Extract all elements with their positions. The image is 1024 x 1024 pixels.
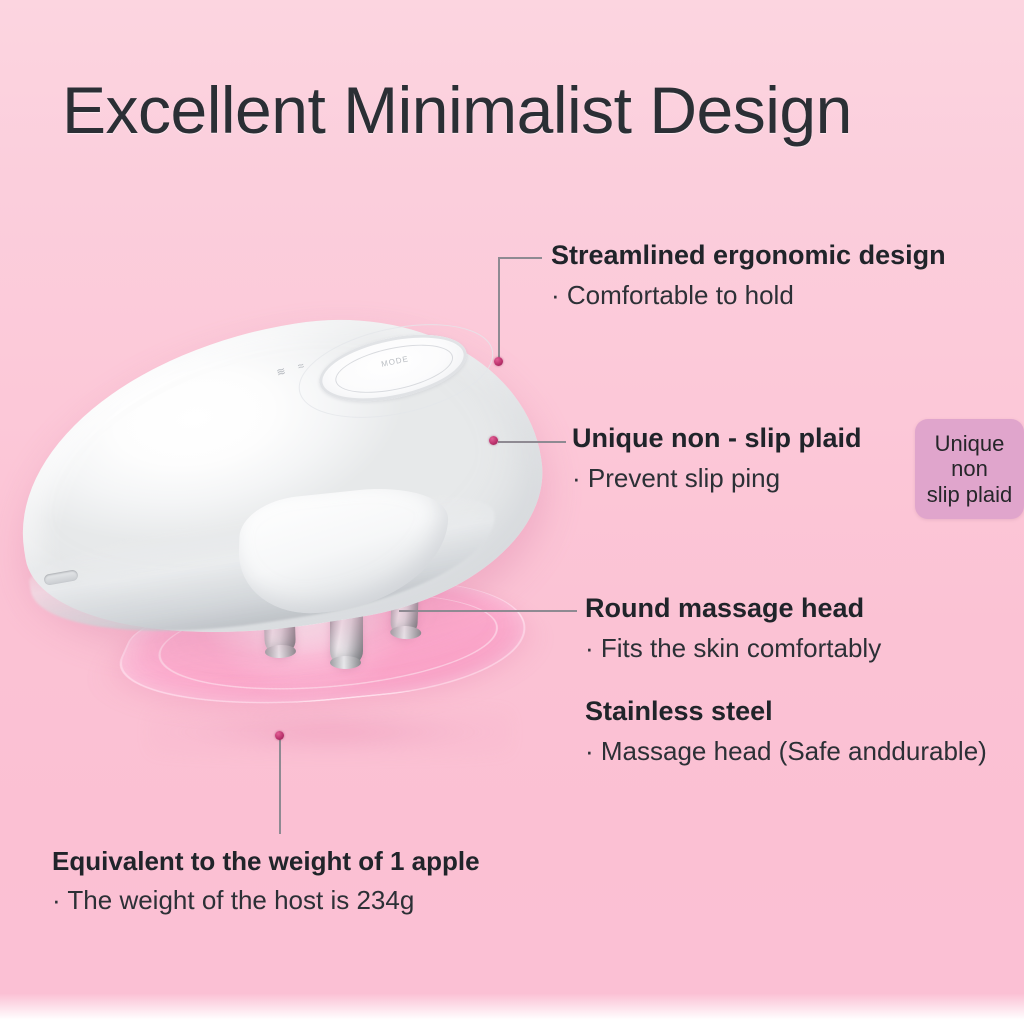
- callout-massage-head-heading: Round massage head: [585, 595, 881, 622]
- callout-ergonomic-heading: Streamlined ergonomic design: [551, 242, 946, 269]
- page-title: Excellent Minimalist Design: [62, 72, 852, 148]
- callout-plaid-heading: Unique non - slip plaid: [572, 425, 862, 452]
- marker-dot-ergonomic: [494, 357, 503, 366]
- leader-line-weight: [279, 738, 281, 834]
- callout-weight: Equivalent to the weight of 1 apple · Th…: [52, 848, 480, 913]
- callout-steel-heading: Stainless steel: [585, 698, 987, 725]
- badge-line-3: slip plaid: [927, 482, 1013, 508]
- leader-line-ergonomic-horizontal: [498, 257, 542, 259]
- callout-round-massage-head: Round massage head · Fits the skin comfo…: [585, 595, 881, 661]
- badge-line-1: Unique: [935, 431, 1005, 457]
- leader-line-massage-head: [399, 610, 577, 612]
- callout-stainless-steel: Stainless steel · Massage head (Safe and…: [585, 698, 987, 764]
- callout-massage-head-detail: · Fits the skin comfortably: [585, 635, 881, 661]
- callout-plaid-detail: · Prevent slip ping: [572, 465, 862, 491]
- product-contact-shadow: [150, 708, 510, 756]
- leader-line-plaid: [498, 441, 566, 443]
- callout-ergonomic-detail: · Comfortable to hold: [551, 282, 946, 308]
- callout-steel-detail: · Massage head (Safe anddurable): [585, 738, 987, 764]
- marker-dot-plaid: [489, 436, 498, 445]
- callout-weight-detail: · The weight of the host is 234g: [52, 887, 480, 913]
- badge-unique-non-slip-plaid: Unique non slip plaid: [915, 419, 1024, 519]
- marker-dot-weight: [275, 731, 284, 740]
- product-infographic: Excellent Minimalist Design MODE ≋ ≈ Str…: [0, 0, 1024, 1024]
- callout-non-slip-plaid: Unique non - slip plaid · Prevent slip p…: [572, 425, 862, 491]
- callout-weight-heading: Equivalent to the weight of 1 apple: [52, 848, 480, 874]
- leader-line-ergonomic-vertical: [498, 258, 500, 362]
- product-image: MODE ≋ ≈: [0, 300, 580, 800]
- badge-line-2: non: [951, 456, 988, 482]
- callout-ergonomic-design: Streamlined ergonomic design · Comfortab…: [551, 242, 946, 308]
